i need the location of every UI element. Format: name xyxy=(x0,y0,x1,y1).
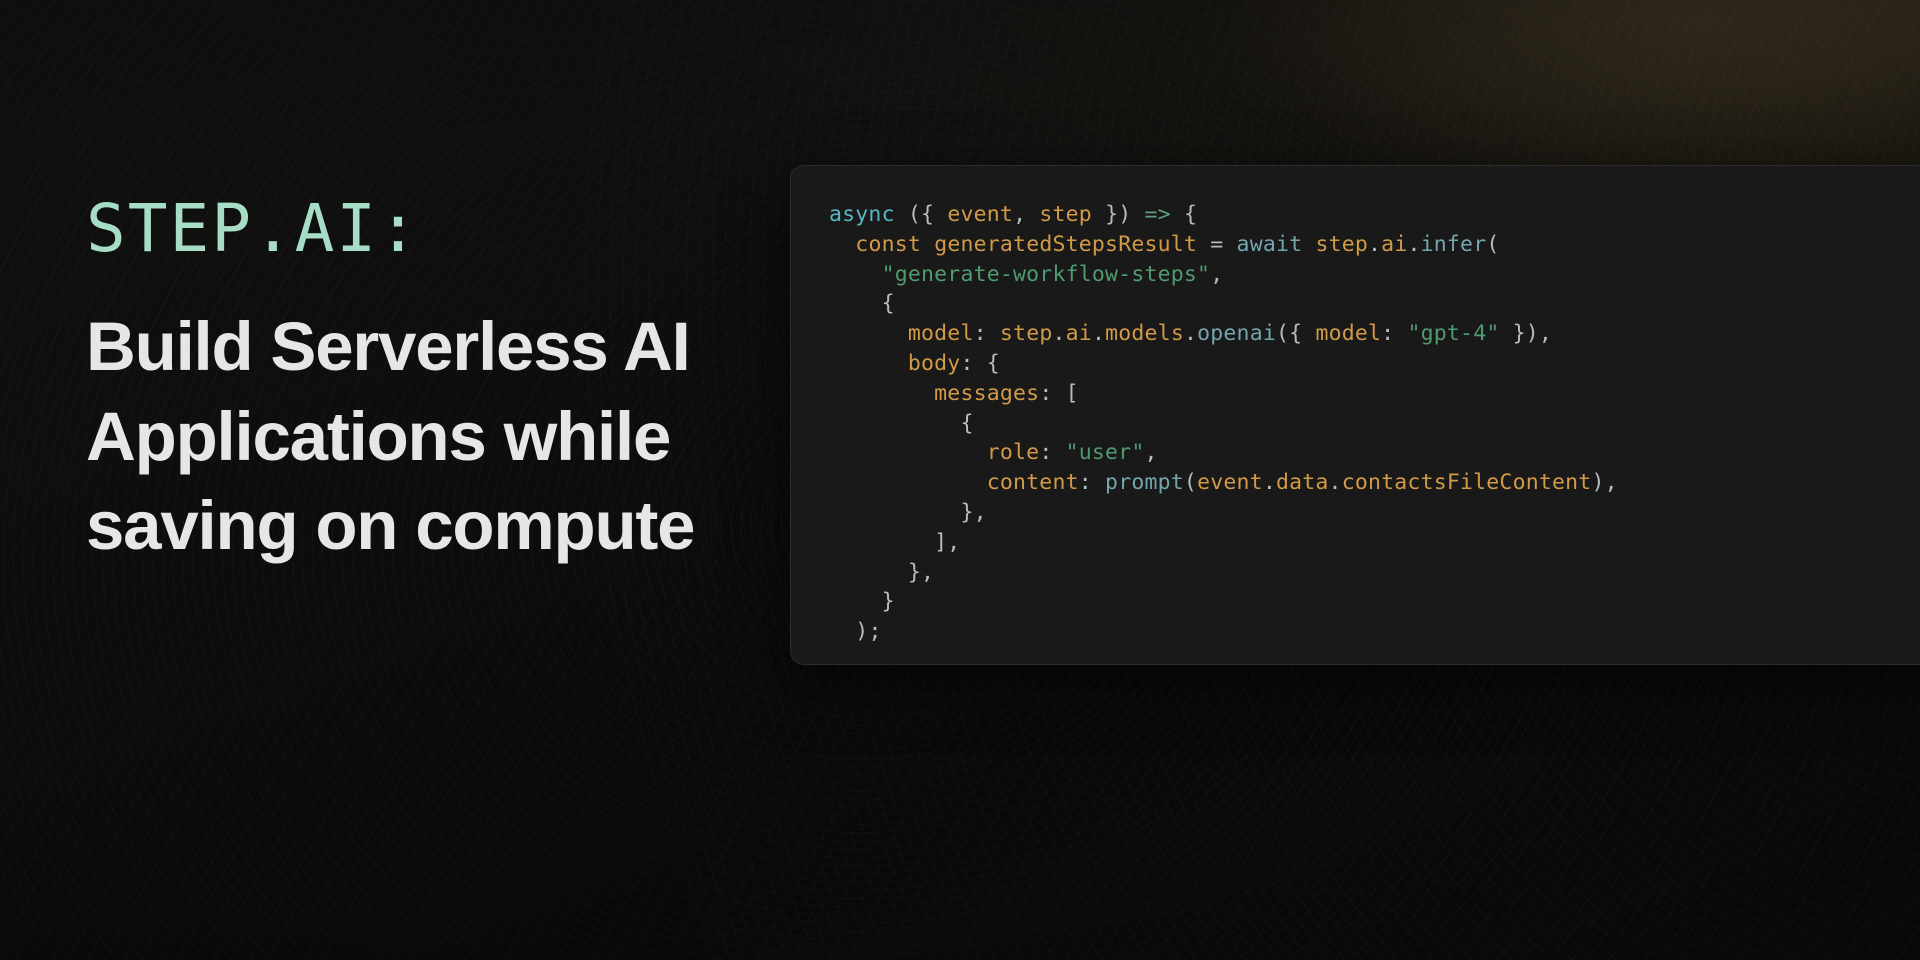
code-line: role: "user", xyxy=(829,440,1158,465)
code-token: }), xyxy=(1499,321,1552,346)
code-line: }, xyxy=(829,500,987,525)
code-token: { xyxy=(1171,202,1197,227)
code-token: { xyxy=(987,351,1000,376)
code-token: model xyxy=(1315,321,1381,346)
page-title: Build Serverless AI Applications while s… xyxy=(86,302,786,571)
code-token: : xyxy=(960,351,986,376)
code-line: body: { xyxy=(829,351,1000,376)
code-token: . xyxy=(1263,470,1276,495)
code-panel: async ({ event, step }) => { const gener… xyxy=(790,165,1920,665)
code-token: } xyxy=(882,589,895,614)
code-line: ], xyxy=(829,530,960,555)
code-token: step xyxy=(1315,232,1368,257)
code-token: { xyxy=(960,411,973,436)
headline-line-1: Build Serverless AI xyxy=(86,302,786,392)
code-token: , xyxy=(1013,202,1039,227)
code-token: step xyxy=(1039,202,1092,227)
headline-line-3: saving on compute xyxy=(86,481,786,571)
code-token: models xyxy=(1105,321,1184,346)
code-token: ); xyxy=(855,619,881,644)
code-token: ai xyxy=(1381,232,1407,257)
code-token: : xyxy=(1079,470,1105,495)
code-token: event xyxy=(947,202,1013,227)
code-line: }, xyxy=(829,560,934,585)
code-token: infer xyxy=(1421,232,1487,257)
code-token: prompt xyxy=(1105,470,1184,495)
code-line: ); xyxy=(829,619,882,644)
code-token: openai xyxy=(1197,321,1276,346)
code-token: = xyxy=(1210,232,1223,257)
code-token: . xyxy=(1052,321,1065,346)
headline-column: STEP.AI: Build Serverless AI Application… xyxy=(86,196,786,571)
code-line: content: prompt(event.data.contactsFileC… xyxy=(829,470,1618,495)
code-token: , xyxy=(1210,262,1223,287)
code-token: ), xyxy=(1591,470,1617,495)
code-token: "generate-workflow-steps" xyxy=(882,262,1211,287)
code-line: model: step.ai.models.openai({ model: "g… xyxy=(829,321,1552,346)
code-token: : xyxy=(974,321,1000,346)
headline-line-2: Applications while xyxy=(86,392,786,482)
code-token: async xyxy=(829,202,895,227)
promo-banner: STEP.AI: Build Serverless AI Application… xyxy=(0,0,1920,960)
code-token xyxy=(1223,232,1236,257)
code-token: event xyxy=(1197,470,1263,495)
code-token: ({ xyxy=(908,202,947,227)
code-token: : xyxy=(1039,440,1065,465)
code-snippet: async ({ event, step }) => { const gener… xyxy=(829,200,1920,647)
code-token: => xyxy=(1145,202,1171,227)
code-token xyxy=(1197,232,1210,257)
code-line: "generate-workflow-steps", xyxy=(829,262,1223,287)
code-token: : xyxy=(1039,381,1065,406)
code-token: model xyxy=(908,321,974,346)
code-token: step xyxy=(1000,321,1053,346)
code-token: }, xyxy=(960,500,986,525)
code-token: . xyxy=(1092,321,1105,346)
code-line: const generatedStepsResult = await step.… xyxy=(829,232,1500,257)
code-token: body xyxy=(908,351,961,376)
code-token: ai xyxy=(1066,321,1092,346)
code-token: { xyxy=(882,291,895,316)
code-token: . xyxy=(1329,470,1342,495)
code-token: ], xyxy=(934,530,960,555)
code-token: }) xyxy=(1092,202,1145,227)
code-token: const xyxy=(855,232,921,257)
code-token: data xyxy=(1276,470,1329,495)
code-token: role xyxy=(987,440,1040,465)
code-token: "gpt-4" xyxy=(1407,321,1499,346)
code-token: "user" xyxy=(1066,440,1145,465)
code-token: . xyxy=(1407,232,1420,257)
code-line: async ({ event, step }) => { xyxy=(829,202,1197,227)
code-token xyxy=(1302,232,1315,257)
code-token: : xyxy=(1381,321,1407,346)
code-panel-body: async ({ event, step }) => { const gener… xyxy=(829,200,1920,664)
code-token: content xyxy=(987,470,1079,495)
code-token: , xyxy=(1144,440,1157,465)
code-token xyxy=(921,232,934,257)
code-line: { xyxy=(829,291,895,316)
code-token: ({ xyxy=(1276,321,1315,346)
code-token xyxy=(895,202,908,227)
code-token: . xyxy=(1368,232,1381,257)
code-line: messages: [ xyxy=(829,381,1079,406)
eyebrow-label: STEP.AI: xyxy=(86,196,786,262)
code-line: } xyxy=(829,589,895,614)
code-token: [ xyxy=(1066,381,1079,406)
code-token: ( xyxy=(1184,470,1197,495)
code-token: await xyxy=(1237,232,1303,257)
code-token: ( xyxy=(1486,232,1499,257)
code-line: { xyxy=(829,411,974,436)
code-token: messages xyxy=(934,381,1039,406)
code-token: . xyxy=(1184,321,1197,346)
code-token: contactsFileContent xyxy=(1342,470,1592,495)
code-token: generatedStepsResult xyxy=(934,232,1197,257)
code-token: }, xyxy=(908,560,934,585)
